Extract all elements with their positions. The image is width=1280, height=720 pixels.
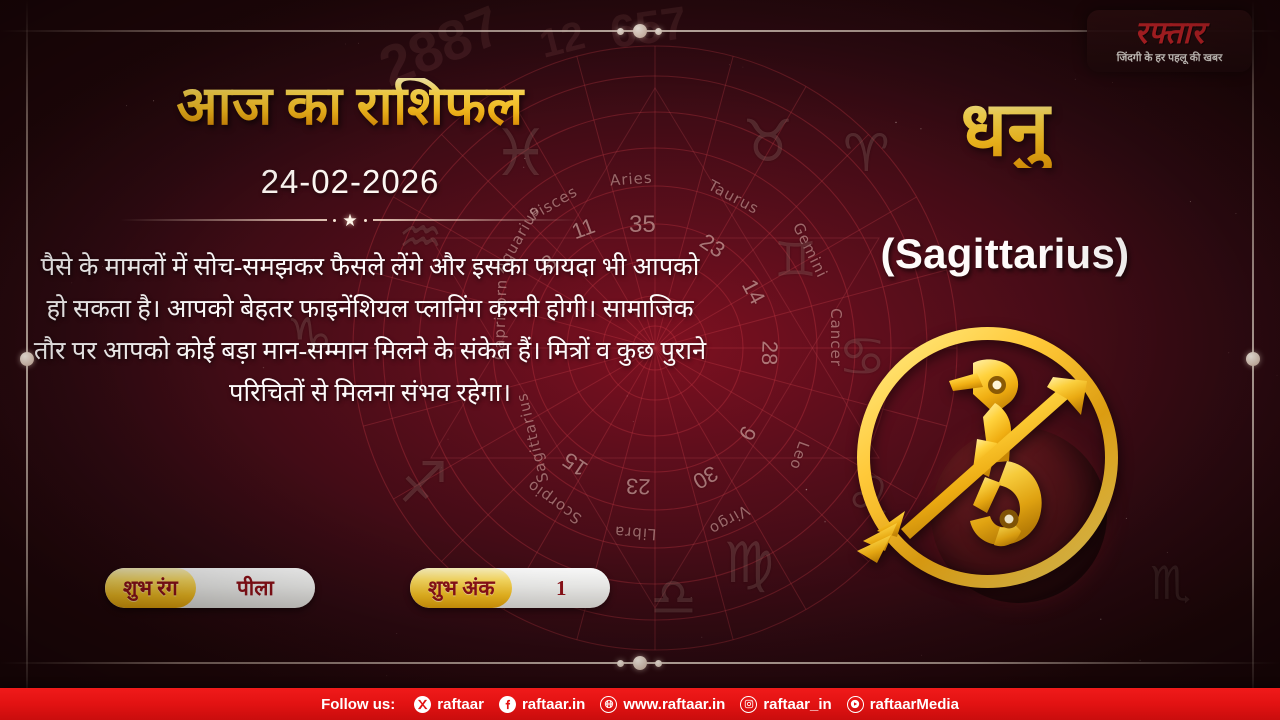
- divider-line-right: [373, 219, 580, 221]
- bottom-rule-knob-left: [617, 660, 624, 667]
- social-link-youtube[interactable]: raftaarMedia: [847, 696, 959, 713]
- sagittarius-archer-icon: [845, 315, 1130, 600]
- horoscope-text: पैसे के मामलों में सोच-समझकर फैसले लेंगे…: [30, 246, 710, 414]
- youtube-handle: raftaarMedia: [870, 696, 959, 713]
- sign-name-hindi: धनु: [790, 92, 1220, 168]
- instagram-icon: [740, 696, 757, 713]
- x-twitter-icon: [414, 696, 431, 713]
- instagram-handle: raftaar_in: [763, 696, 831, 713]
- sign-name-english: (Sagittarius): [790, 230, 1220, 278]
- horoscope-date: 24-02-2026: [0, 163, 700, 201]
- lucky-number-label: शुभ अंक: [410, 568, 512, 608]
- wheel-number-28: 28: [758, 340, 781, 365]
- star-icon: ★: [342, 212, 357, 229]
- divider-dot-right: [364, 219, 367, 222]
- twitter-handle: raftaar: [437, 696, 484, 713]
- globe-icon: [600, 696, 617, 713]
- follow-us-label: Follow us:: [321, 696, 395, 713]
- sign-emblem-wrap: [845, 315, 1130, 600]
- social-footer: Follow us: raftaar raftaar.in www.raftaa…: [0, 688, 1280, 720]
- bottom-rule-knob-right: [655, 660, 662, 667]
- facebook-icon: [499, 696, 516, 713]
- lucky-color-label: शुभ रंग: [105, 568, 196, 608]
- social-link-instagram[interactable]: raftaar_in: [740, 696, 831, 713]
- social-link-twitter[interactable]: raftaar: [414, 696, 484, 713]
- page-title: आज का राशिफल: [0, 78, 700, 135]
- facebook-handle: raftaar.in: [522, 696, 585, 713]
- lucky-color-value: पीला: [196, 568, 315, 608]
- star-divider: ★: [120, 210, 580, 230]
- website-url: www.raftaar.in: [623, 696, 725, 713]
- content-column: आज का राशिफल 24-02-2026 ★ पैसे के मामलों…: [0, 0, 760, 660]
- lucky-color-badge: शुभ रंग पीला: [105, 568, 315, 608]
- social-link-website[interactable]: www.raftaar.in: [600, 696, 725, 713]
- horoscope-card: Aries Taurus Gemini Cancer Leo Virgo Lib…: [0, 0, 1280, 720]
- divider-dot-left: [333, 219, 336, 222]
- lucky-badges: शुभ रंग पीला शुभ अंक 1: [105, 568, 610, 608]
- youtube-icon: [847, 696, 864, 713]
- social-link-facebook[interactable]: raftaar.in: [499, 696, 585, 713]
- lucky-number-value: 1: [512, 568, 610, 608]
- divider-line-left: [120, 219, 327, 221]
- lucky-number-badge: शुभ अंक 1: [410, 568, 610, 608]
- sign-column: धनु (Sagittarius): [790, 0, 1280, 660]
